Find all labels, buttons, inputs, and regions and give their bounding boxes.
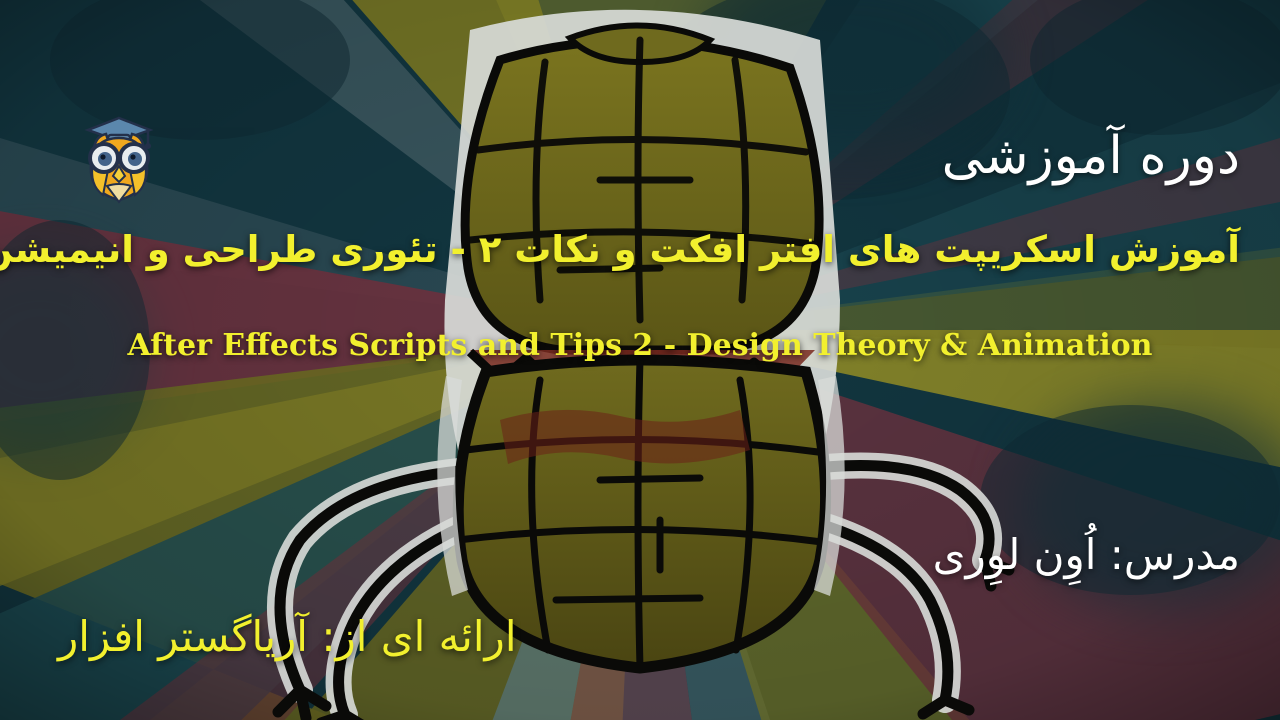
course-kicker: دوره آموزشی (942, 124, 1240, 189)
owl-graduate-logo-icon (74, 108, 164, 208)
instructor-label: مدرس: اُوِن لوِری (933, 530, 1240, 579)
title-slide: دوره آموزشی آموزش اسکریپت های افتر افکت … (0, 0, 1280, 720)
presenter-label: ارائه ای از: آریاگستر افزار (58, 612, 517, 661)
course-title-persian: آموزش اسکریپت های افتر افکت و نکات ۲ - ت… (40, 228, 1240, 271)
course-title-english: After Effects Scripts and Tips 2 - Desig… (0, 328, 1280, 363)
